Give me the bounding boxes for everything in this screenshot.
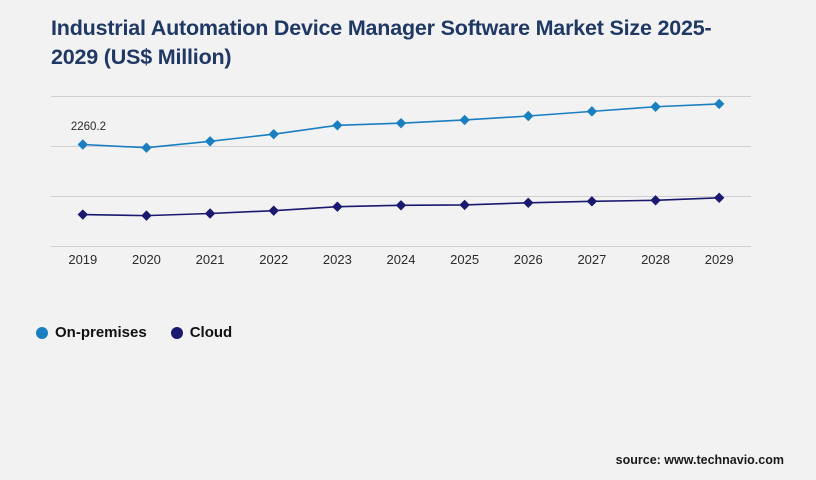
x-axis-tick-2027: 2027 — [577, 252, 606, 267]
x-axis-tick-2024: 2024 — [387, 252, 416, 267]
data-point-marker[interactable] — [650, 195, 660, 205]
x-axis-tick-2019: 2019 — [68, 252, 97, 267]
x-axis-tick-2025: 2025 — [450, 252, 479, 267]
x-axis-tick-2029: 2029 — [705, 252, 734, 267]
data-point-marker[interactable] — [714, 99, 724, 109]
data-point-marker[interactable] — [714, 193, 724, 203]
data-point-marker[interactable] — [332, 120, 342, 130]
chart-card: Industrial Automation Device Manager Sof… — [0, 0, 816, 480]
legend-item-on-premises[interactable]: On-premises — [36, 324, 147, 341]
chart-legend: On-premisesCloud — [36, 324, 232, 341]
x-axis-tick-2022: 2022 — [259, 252, 288, 267]
x-axis-tick-2021: 2021 — [196, 252, 225, 267]
data-point-marker[interactable] — [205, 208, 215, 218]
data-point-marker[interactable] — [205, 136, 215, 146]
data-point-marker[interactable] — [396, 200, 406, 210]
x-axis-tick-2026: 2026 — [514, 252, 543, 267]
data-point-marker[interactable] — [396, 118, 406, 128]
data-point-marker[interactable] — [459, 115, 469, 125]
gridline — [51, 246, 751, 247]
data-point-marker[interactable] — [141, 143, 151, 153]
legend-swatch-icon — [36, 327, 48, 339]
x-axis-tick-2028: 2028 — [641, 252, 670, 267]
source-note: source: www.technavio.com — [616, 453, 784, 467]
data-point-marker[interactable] — [78, 139, 88, 149]
plot-svg — [51, 96, 751, 246]
data-point-marker[interactable] — [269, 205, 279, 215]
legend-item-cloud[interactable]: Cloud — [171, 324, 233, 341]
data-point-marker[interactable] — [78, 209, 88, 219]
plot-area: 2260.2 — [51, 96, 751, 246]
x-axis: 2019202020212022202320242025202620272028… — [51, 252, 751, 272]
legend-label: Cloud — [190, 324, 233, 341]
data-point-marker[interactable] — [650, 102, 660, 112]
data-point-marker[interactable] — [141, 210, 151, 220]
x-axis-tick-2020: 2020 — [132, 252, 161, 267]
legend-label: On-premises — [55, 324, 147, 341]
data-point-marker[interactable] — [332, 202, 342, 212]
data-point-marker[interactable] — [459, 200, 469, 210]
legend-swatch-icon — [171, 327, 183, 339]
x-axis-tick-2023: 2023 — [323, 252, 352, 267]
data-point-marker[interactable] — [523, 111, 533, 121]
chart-title: Industrial Automation Device Manager Sof… — [51, 14, 751, 72]
data-point-marker[interactable] — [523, 198, 533, 208]
data-point-marker[interactable] — [269, 129, 279, 139]
data-point-marker[interactable] — [587, 196, 597, 206]
data-point-label: 2260.2 — [71, 121, 106, 133]
data-point-marker[interactable] — [587, 106, 597, 116]
